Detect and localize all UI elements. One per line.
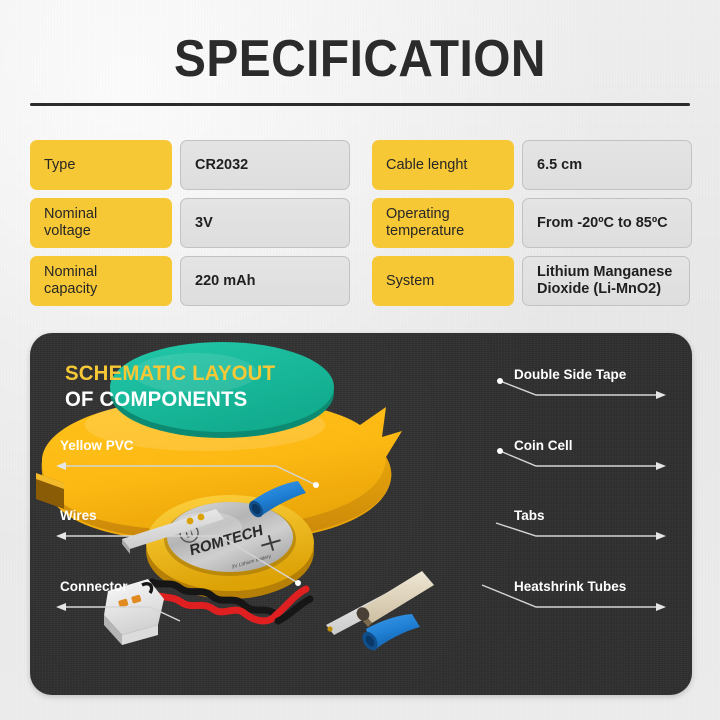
schematic-heading-line1: SCHEMATIC LAYOUT [65,361,275,387]
spec-label: Cable lenght [372,140,514,190]
spec-label: Operating temperature [372,198,514,248]
specification-table: Type CR2032 Cable lenght 6.5 cm Nominal … [30,140,692,306]
spec-value: Lithium Manganese Dioxide (Li-MnO2) [522,256,690,306]
spec-value: 6.5 cm [522,140,692,190]
callout-label-coin-cell: Coin Cell [514,438,573,454]
spec-row: Nominal capacity 220 mAh [30,256,350,306]
callout-label-wires: Wires [60,508,97,524]
callout-label-connector: Connector [60,579,128,595]
spec-label: Nominal capacity [30,256,172,306]
callout-label-tabs: Tabs [514,508,545,524]
spec-row: Type CR2032 [30,140,350,190]
spec-row: Operating temperature From -20ºC to 85ºC [372,198,692,248]
callout-label-heatshrink-tubes: Heatshrink Tubes [514,579,626,595]
schematic-heading: SCHEMATIC LAYOUT OF COMPONENTS [65,361,282,413]
spec-row: System Lithium Manganese Dioxide (Li-MnO… [372,256,692,306]
spec-value: From -20ºC to 85ºC [522,198,692,248]
schematic-panel: SCHEMATIC LAYOUT OF COMPONENTS [30,333,692,695]
callout-label-yellow-pvc: Yellow PVC [60,438,134,454]
spec-row: Cable lenght 6.5 cm [372,140,692,190]
spec-value: CR2032 [180,140,350,190]
spec-label: System [372,256,514,306]
title-divider [30,103,690,106]
spec-value: 220 mAh [180,256,350,306]
page-title: SPECIFICATION [29,30,691,88]
spec-label: Type [30,140,172,190]
spec-row: Nominal voltage 3V [30,198,350,248]
spec-value: 3V [180,198,350,248]
spec-label: Nominal voltage [30,198,172,248]
callout-label-double-side-tape: Double Side Tape [514,367,626,383]
schematic-heading-line2: OF COMPONENTS [65,387,275,413]
